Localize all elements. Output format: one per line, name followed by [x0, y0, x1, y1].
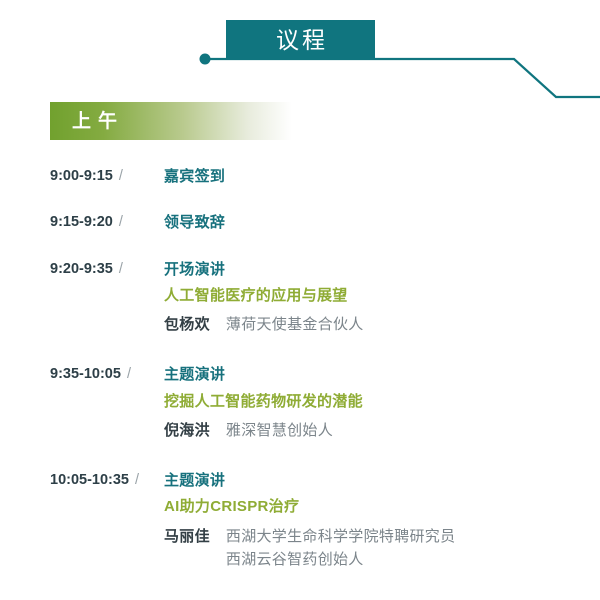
- section-banner-morning: 上午: [50, 102, 292, 140]
- agenda-time: 10:05-10:35: [50, 472, 129, 488]
- agenda-speaker: 马丽佳: [164, 525, 210, 546]
- agenda-separator: /: [119, 214, 123, 230]
- agenda-speaker: 包杨欢: [164, 313, 210, 334]
- agenda-list: 9:00-9:15 / 嘉宾签到 9:15-9:20 / 领导致辞 9:20-9…: [0, 158, 600, 571]
- page-header: 议程: [0, 0, 600, 100]
- agenda-topic: 人工智能医疗的应用与展望: [164, 287, 600, 304]
- agenda-row: 9:00-9:15 / 嘉宾签到: [0, 168, 600, 185]
- agenda-time: 9:15-9:20: [50, 214, 113, 230]
- agenda-affiliation: 西湖云谷智药创始人: [226, 548, 456, 571]
- agenda-badge: 议程: [226, 20, 375, 60]
- agenda-body: 开场演讲 人工智能医疗的应用与展望 包杨欢 薄荷天使基金合伙人: [158, 261, 600, 337]
- agenda-title: 领导致辞: [164, 214, 600, 231]
- agenda-topic: 挖掘人工智能药物研发的潜能: [164, 393, 600, 410]
- agenda-title: 嘉宾签到: [164, 168, 600, 185]
- agenda-body: 主题演讲 AI助力CRISPR治疗 马丽佳 西湖大学生命科学学院特聘研究员 西湖…: [158, 472, 600, 571]
- agenda-time: 9:35-10:05: [50, 366, 121, 382]
- agenda-row: 9:20-9:35 / 开场演讲 人工智能医疗的应用与展望 包杨欢 薄荷天使基金…: [0, 261, 600, 337]
- agenda-time-cell: 10:05-10:35 /: [50, 472, 158, 488]
- agenda-row: 9:15-9:20 / 领导致辞: [0, 214, 600, 231]
- agenda-topic: AI助力CRISPR治疗: [164, 498, 600, 515]
- agenda-affiliation-stack: 西湖大学生命科学学院特聘研究员 西湖云谷智药创始人: [226, 525, 456, 572]
- agenda-affiliation: 西湖大学生命科学学院特聘研究员: [226, 525, 456, 548]
- agenda-time-cell: 9:35-10:05 /: [50, 366, 158, 382]
- agenda-title: 主题演讲: [164, 366, 600, 383]
- section-banner-label: 上午: [50, 112, 124, 131]
- agenda-time: 9:20-9:35: [50, 261, 113, 277]
- agenda-speaker-line: 马丽佳 西湖大学生命科学学院特聘研究员 西湖云谷智药创始人: [164, 525, 600, 572]
- agenda-affiliation: 雅深智慧创始人: [226, 419, 333, 442]
- agenda-row: 9:35-10:05 / 主题演讲 挖掘人工智能药物研发的潜能 倪海洪 雅深智慧…: [0, 366, 600, 442]
- agenda-affiliation-stack: 雅深智慧创始人: [226, 419, 333, 442]
- agenda-separator: /: [127, 366, 131, 382]
- agenda-badge-label: 议程: [273, 29, 328, 52]
- agenda-separator: /: [119, 261, 123, 277]
- agenda-separator: /: [135, 472, 139, 488]
- agenda-title: 主题演讲: [164, 472, 600, 489]
- agenda-time-cell: 9:15-9:20 /: [50, 214, 158, 230]
- agenda-speaker-line: 倪海洪 雅深智慧创始人: [164, 419, 600, 442]
- agenda-speaker-line: 包杨欢 薄荷天使基金合伙人: [164, 313, 600, 336]
- agenda-affiliation: 薄荷天使基金合伙人: [226, 313, 364, 336]
- agenda-body: 主题演讲 挖掘人工智能药物研发的潜能 倪海洪 雅深智慧创始人: [158, 366, 600, 442]
- agenda-body: 嘉宾签到: [158, 168, 600, 185]
- agenda-title: 开场演讲: [164, 261, 600, 278]
- agenda-time-cell: 9:00-9:15 /: [50, 168, 158, 184]
- agenda-speaker: 倪海洪: [164, 419, 210, 440]
- agenda-time: 9:00-9:15: [50, 168, 113, 184]
- agenda-body: 领导致辞: [158, 214, 600, 231]
- agenda-affiliation-stack: 薄荷天使基金合伙人: [226, 313, 364, 336]
- agenda-row: 10:05-10:35 / 主题演讲 AI助力CRISPR治疗 马丽佳 西湖大学…: [0, 472, 600, 571]
- agenda-separator: /: [119, 168, 123, 184]
- agenda-time-cell: 9:20-9:35 /: [50, 261, 158, 277]
